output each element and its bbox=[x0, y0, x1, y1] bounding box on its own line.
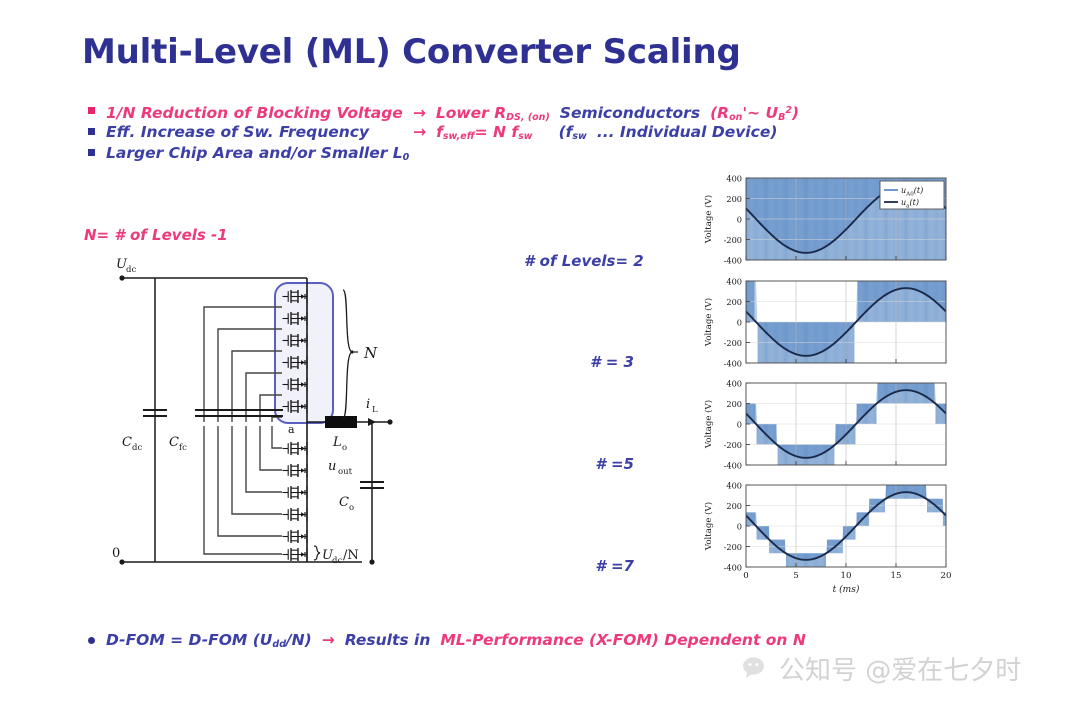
svg-text:Voltage (V): Voltage (V) bbox=[703, 195, 714, 244]
chart-label-2level: # of Levels= 2 bbox=[524, 252, 634, 270]
chart-label-3level: # = 3 bbox=[524, 353, 634, 371]
label-uout: u bbox=[328, 459, 336, 474]
lower-switch-5 bbox=[283, 530, 308, 543]
page-title: Multi-Level (ML) Converter Scaling bbox=[82, 32, 741, 72]
bottom-text-b: /N) bbox=[286, 631, 312, 649]
converter-schematic: U dc 0 C dc C fc a L o C o u out i L N U… bbox=[100, 250, 420, 590]
svg-text:200: 200 bbox=[726, 194, 742, 204]
wechat-icon bbox=[742, 656, 772, 682]
bullet-1-arrow: → bbox=[413, 104, 426, 122]
flying-capacitors bbox=[195, 410, 283, 416]
bullet-1-text-a: 1/N Reduction of Blocking Voltage bbox=[106, 104, 403, 122]
bullet-2-text-b: f bbox=[436, 123, 443, 141]
svg-text:0: 0 bbox=[737, 521, 742, 531]
svg-text:-200: -200 bbox=[724, 338, 742, 348]
svg-text:5: 5 bbox=[793, 571, 798, 581]
bullet-2-text-e: ... Individual Device) bbox=[597, 123, 778, 141]
svg-text:200: 200 bbox=[726, 399, 742, 409]
bottom-text-c: Results in bbox=[345, 631, 431, 649]
label-co-sub: o bbox=[349, 503, 354, 513]
n-brace bbox=[343, 290, 352, 418]
label-il-sub: L bbox=[372, 405, 378, 415]
svg-text:-400: -400 bbox=[724, 358, 742, 368]
upper-stack-highlight bbox=[275, 283, 333, 423]
svg-text:400: 400 bbox=[726, 276, 742, 286]
label-il: i bbox=[366, 397, 370, 412]
label-cfc: C bbox=[169, 435, 179, 450]
svg-text:10: 10 bbox=[841, 571, 852, 581]
bullet-1-text-f: ) bbox=[792, 104, 799, 122]
svg-text:Voltage (V): Voltage (V) bbox=[703, 400, 714, 449]
lower-switch-6 bbox=[283, 548, 308, 561]
bullet-item-1: 1/N Reduction of Blocking Voltage→Lower … bbox=[88, 101, 799, 122]
bullet-2-sub-c: sw bbox=[518, 131, 532, 142]
bullet-marker-square-pink bbox=[88, 107, 95, 114]
bullet-1-text-d: (R bbox=[710, 104, 729, 122]
label-lo: L bbox=[332, 435, 342, 450]
label-co: C bbox=[339, 495, 349, 510]
bullet-1-text-e: '~ U bbox=[742, 104, 778, 122]
label-cell-voltage-tail: /N bbox=[343, 548, 359, 563]
flying-cap-loops-upper bbox=[204, 307, 282, 422]
levels-note: N= # of Levels -1 bbox=[84, 226, 228, 244]
label-cfc-sub: fc bbox=[179, 443, 187, 453]
flying-cap-loops-lower bbox=[204, 426, 282, 554]
slide-root: Multi-Level (ML) Converter Scaling 1/N R… bbox=[0, 0, 1092, 704]
bottom-text-a: D-FOM = D-FOM (U bbox=[106, 631, 272, 649]
lower-switch-4 bbox=[283, 508, 308, 521]
label-n-brace: N bbox=[363, 344, 378, 362]
bullet-2-text-c: = N f bbox=[475, 123, 519, 141]
label-uout-sub: out bbox=[338, 467, 353, 477]
svg-text:15: 15 bbox=[891, 571, 902, 581]
bullet-marker-dot-blue bbox=[88, 637, 95, 644]
bullet-2-sub-d: sw bbox=[572, 131, 586, 142]
bullet-marker-square-blue-1 bbox=[88, 128, 95, 135]
bullet-2-arrow: → bbox=[413, 123, 426, 141]
svg-text:-400: -400 bbox=[724, 255, 742, 265]
bottom-bullet: D-FOM = D-FOM (Udd/N)→Results inML-Perfo… bbox=[88, 630, 806, 655]
bullet-2-sub-b: sw,eff bbox=[443, 131, 475, 142]
svg-text:-200: -200 bbox=[724, 235, 742, 245]
waveform-chart-3level: 4002000-200-400Voltage (V) bbox=[700, 275, 952, 373]
bullet-1-text-c: Semiconductors bbox=[560, 104, 700, 122]
bullet-2-text-a: Eff. Increase of Sw. Frequency bbox=[106, 123, 369, 141]
svg-text:0: 0 bbox=[737, 317, 742, 327]
svg-text:200: 200 bbox=[726, 501, 742, 511]
svg-text:Voltage (V): Voltage (V) bbox=[703, 298, 714, 347]
svg-text:0: 0 bbox=[743, 571, 748, 581]
svg-text:200: 200 bbox=[726, 297, 742, 307]
bullet-1-text-b: Lower R bbox=[436, 104, 506, 122]
svg-text:20: 20 bbox=[941, 571, 952, 581]
waveform-chart-2level: 4002000-200-400Voltage (V)uA0(t)ua(t) bbox=[700, 172, 952, 270]
label-zero: 0 bbox=[112, 546, 120, 561]
lower-switch-2 bbox=[283, 464, 308, 477]
watermark-text: 公知号 @爱在七夕时 bbox=[779, 650, 1021, 687]
bullet-1-sup-e: 2 bbox=[785, 105, 792, 116]
svg-text:400: 400 bbox=[726, 378, 742, 388]
output-inductor bbox=[325, 416, 357, 428]
bullet-3-text-a: Larger Chip Area and/or Smaller L bbox=[106, 144, 403, 162]
bottom-sub-a: dd bbox=[272, 639, 286, 650]
svg-text:0: 0 bbox=[737, 214, 742, 224]
svg-text:Voltage (V): Voltage (V) bbox=[703, 502, 714, 551]
svg-text:-200: -200 bbox=[724, 440, 742, 450]
chart-label-5level: # =5 bbox=[524, 455, 634, 473]
bullet-list: 1/N Reduction of Blocking Voltage→Lower … bbox=[88, 101, 799, 164]
svg-text:400: 400 bbox=[726, 173, 742, 183]
label-lo-sub: o bbox=[342, 443, 347, 453]
bullet-marker-square-blue-2 bbox=[88, 149, 95, 156]
lower-switch-3 bbox=[283, 486, 308, 499]
label-udc-sub: dc bbox=[126, 265, 136, 275]
bullet-3-sub-a: 0 bbox=[403, 152, 410, 163]
label-node-a: a bbox=[288, 423, 295, 436]
label-cell-voltage-sub: dc bbox=[332, 556, 342, 566]
svg-text:t (ms): t (ms) bbox=[833, 584, 860, 595]
waveform-chart-5level: 4002000-200-400Voltage (V) bbox=[700, 377, 952, 475]
svg-text:-200: -200 bbox=[724, 542, 742, 552]
cell-voltage-brace bbox=[314, 546, 320, 560]
watermark: 公知号 @爱在七夕时 bbox=[742, 650, 1021, 687]
lower-switch-1 bbox=[283, 442, 308, 455]
chart-label-7level: # =7 bbox=[524, 557, 634, 575]
label-cdc: C bbox=[122, 435, 132, 450]
bottom-text-d: ML-Performance (X-FOM) Dependent on N bbox=[440, 631, 805, 649]
svg-text:0: 0 bbox=[737, 419, 742, 429]
svg-text:400: 400 bbox=[726, 480, 742, 490]
label-cdc-sub: dc bbox=[132, 443, 142, 453]
bullet-2-text-d: (f bbox=[559, 123, 573, 141]
bullet-item-2: Eff. Increase of Sw. Frequency→fsw,eff= … bbox=[88, 122, 799, 143]
bottom-arrow: → bbox=[322, 631, 335, 649]
svg-text:-400: -400 bbox=[724, 562, 742, 572]
waveform-chart-7level: 4002000-200-400Voltage (V)05101520t (ms) bbox=[700, 479, 952, 603]
svg-text:-400: -400 bbox=[724, 460, 742, 470]
